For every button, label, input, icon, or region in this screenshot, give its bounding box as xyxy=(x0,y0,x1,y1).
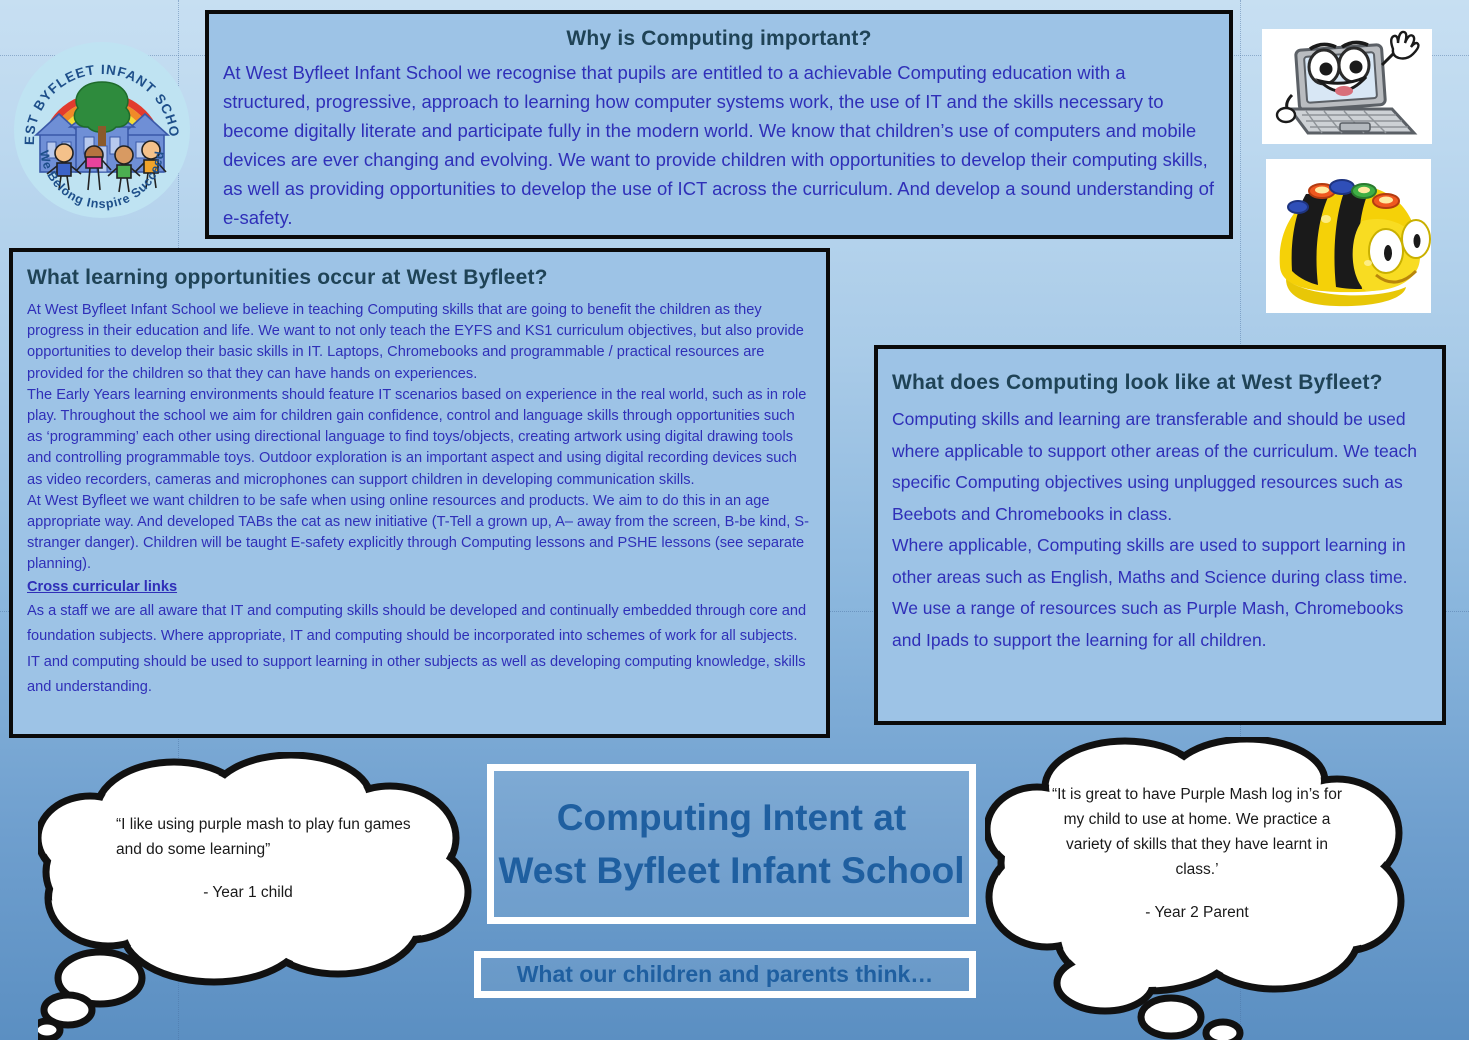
learning-paragraph-3: At West Byfleet we want children to be s… xyxy=(27,491,812,576)
bubble-right-quote: “It is great to have Purple Mash log in’… xyxy=(1052,786,1342,878)
bubble-left-content: “I like using purple mash to play fun ga… xyxy=(116,812,416,905)
beebot-robot-image xyxy=(1266,159,1431,313)
poster-title-line-2: West Byfleet Infant School xyxy=(499,844,965,897)
look-paragraph-2: Where applicable, Computing skills are u… xyxy=(892,530,1428,593)
look-paragraph-3: We use a range of resources such as Purp… xyxy=(892,593,1428,656)
thought-bubble-year-1-child: “I like using purple mash to play fun ga… xyxy=(38,752,478,1040)
poster-title-line-1: Computing Intent at xyxy=(557,791,906,844)
look-box-body: Computing skills and learning are transf… xyxy=(892,404,1428,656)
why-is-computing-important-box: Why is Computing important? At West Byfl… xyxy=(205,10,1233,239)
school-logo: WEST BYFLEET INFANT SCHOOL We Belong Ins… xyxy=(14,42,190,218)
why-box-heading: Why is Computing important? xyxy=(223,26,1215,52)
poster-title-banner: Computing Intent at West Byfleet Infant … xyxy=(487,764,976,924)
bubble-right-content: “It is great to have Purple Mash log in’… xyxy=(1047,782,1347,925)
school-logo-graphic: WEST BYFLEET INFANT SCHOOL We Belong Ins… xyxy=(14,42,190,218)
look-box-heading: What does Computing look like at West By… xyxy=(892,363,1428,402)
bubble-right-attribution: - Year 2 Parent xyxy=(1047,900,1347,925)
bubble-left-attribution: - Year 1 child xyxy=(116,880,416,905)
computing-intent-poster: WEST BYFLEET INFANT SCHOOL We Belong Ins… xyxy=(0,0,1469,1040)
what-computing-looks-like-box: What does Computing look like at West By… xyxy=(874,345,1446,725)
look-paragraph-1: Computing skills and learning are transf… xyxy=(892,404,1428,530)
learning-opportunities-box: What learning opportunities occur at Wes… xyxy=(9,248,830,738)
learning-paragraph-2: The Early Years learning environments sh… xyxy=(27,385,812,491)
learning-paragraph-4: As a staff we are all aware that IT and … xyxy=(27,599,812,701)
learning-box-heading: What learning opportunities occur at Wes… xyxy=(27,264,812,292)
subtitle-text: What our children and parents think… xyxy=(517,961,934,988)
children-parents-subtitle-banner: What our children and parents think… xyxy=(474,951,976,998)
smiling-laptop-image xyxy=(1262,29,1432,144)
cross-curricular-links-subheading: Cross curricular links xyxy=(27,576,812,599)
thought-bubble-year-2-parent: “It is great to have Purple Mash log in’… xyxy=(985,737,1405,1040)
laptop-icon xyxy=(1262,29,1432,144)
learning-paragraph-1: At West Byfleet Infant School we believe… xyxy=(27,300,812,385)
why-box-paragraph: At West Byfleet Infant School we recogni… xyxy=(223,58,1215,232)
beebot-icon xyxy=(1266,159,1431,313)
bubble-left-quote: “I like using purple mash to play fun ga… xyxy=(116,816,411,858)
school-logo-circle: WEST BYFLEET INFANT SCHOOL We Belong Ins… xyxy=(14,42,190,218)
learning-box-body: At West Byfleet Infant School we believe… xyxy=(27,300,812,701)
